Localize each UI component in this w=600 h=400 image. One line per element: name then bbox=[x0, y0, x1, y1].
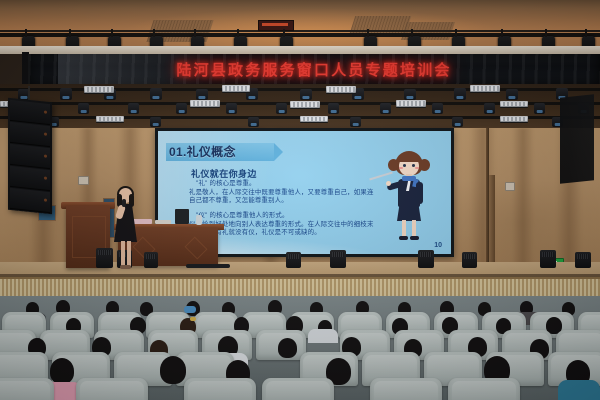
slide-paragraph: "礼" 的核心是尊重。 bbox=[196, 180, 384, 188]
moving-head-light bbox=[506, 89, 518, 100]
attendee-head-accessory-icon bbox=[184, 306, 196, 313]
led-bar-light bbox=[300, 116, 328, 122]
table-monitor bbox=[175, 209, 189, 224]
auditorium-seat[interactable] bbox=[0, 378, 54, 400]
moving-head-light bbox=[226, 103, 237, 114]
line-array-speaker-right bbox=[560, 94, 594, 184]
auditorium-seat[interactable] bbox=[370, 378, 442, 400]
line-array-speaker-left bbox=[8, 98, 52, 215]
ceiling-soffit bbox=[0, 46, 600, 54]
led-bar-light bbox=[190, 100, 220, 107]
led-bar-light bbox=[96, 116, 124, 122]
moving-head-light bbox=[150, 88, 162, 100]
cartoon-shoe-right bbox=[410, 236, 419, 240]
attendee-shirt bbox=[558, 380, 600, 400]
cartoon-blush-left bbox=[399, 167, 403, 169]
auditorium-seat[interactable] bbox=[76, 378, 148, 400]
moving-head-light bbox=[78, 103, 89, 114]
slide-page-number: 10 bbox=[434, 242, 442, 249]
wall-sensor-icon bbox=[505, 182, 515, 191]
audience-seating-area bbox=[0, 296, 600, 400]
moving-head-light bbox=[196, 89, 208, 100]
moving-head-light bbox=[60, 88, 72, 100]
stage-cable-trough bbox=[186, 264, 230, 268]
cartoon-skirt bbox=[397, 205, 421, 221]
auditorium-photo: 陆河县政务服务窗口人员专题培训会 bbox=[0, 0, 600, 400]
wall-sensor-icon bbox=[78, 176, 89, 185]
cartoon-arm-right bbox=[416, 182, 423, 204]
attendee-shirt bbox=[308, 329, 338, 343]
moving-head-light bbox=[150, 117, 161, 127]
moving-head-light bbox=[380, 103, 391, 114]
moving-head-light bbox=[432, 103, 443, 114]
stage-lighting-rig bbox=[0, 84, 600, 128]
table-document bbox=[155, 220, 171, 224]
attendee-head bbox=[50, 358, 74, 384]
presenter-shoes bbox=[120, 265, 131, 269]
led-bar-light bbox=[326, 86, 356, 93]
led-bar-light bbox=[222, 85, 250, 92]
cartoon-blush-right bbox=[415, 167, 419, 169]
ceiling-accent-light-glow bbox=[262, 23, 288, 26]
cartoon-shoe-left bbox=[399, 236, 408, 240]
led-bar-light bbox=[500, 101, 528, 107]
led-banner-panel: 陆河县政务服务窗口人员专题培训会 bbox=[28, 54, 600, 84]
led-bar-light bbox=[470, 85, 500, 92]
moving-head-light bbox=[452, 117, 463, 127]
moving-head-light bbox=[404, 89, 416, 100]
stage-floor-monitor bbox=[462, 252, 477, 268]
moving-head-light bbox=[350, 117, 361, 127]
moving-head-light bbox=[248, 117, 259, 127]
auditorium-seat[interactable] bbox=[262, 378, 334, 400]
moving-head-light bbox=[128, 103, 139, 114]
cartoon-hair-bun-right bbox=[419, 159, 430, 171]
slide-title: 01.礼仪概念 bbox=[169, 144, 279, 160]
led-bar-light bbox=[396, 100, 426, 107]
stage-floor-monitor bbox=[144, 252, 158, 268]
presenter-person bbox=[108, 188, 142, 272]
attendee-head bbox=[278, 338, 297, 358]
attendee-hair-clip-icon bbox=[190, 317, 196, 321]
microphone-icon bbox=[122, 199, 126, 207]
moving-head-light bbox=[534, 103, 545, 114]
led-bar-light bbox=[500, 116, 528, 122]
led-bar-light bbox=[84, 86, 114, 93]
moving-head-light bbox=[328, 103, 339, 114]
moving-head-light bbox=[454, 88, 466, 100]
table-water-bottle bbox=[196, 215, 202, 225]
stage-floor-monitor bbox=[418, 250, 434, 268]
auditorium-seat[interactable] bbox=[184, 378, 256, 400]
led-banner-text: 陆河县政务服务窗口人员专题培训会 bbox=[28, 54, 600, 84]
slide-paragraph: 礼是敬人，在人际交往中既要尊重他人，又要尊重自己，如果连自己都不尊重，又怎能尊重… bbox=[189, 189, 377, 204]
cartoon-presenter-illustration bbox=[385, 149, 437, 245]
led-bar-light bbox=[290, 101, 320, 108]
moving-head-light bbox=[276, 103, 287, 114]
cartoon-eye-left bbox=[403, 164, 406, 167]
stage-floor-monitor bbox=[575, 252, 591, 268]
moving-head-light bbox=[484, 103, 495, 114]
slide-subtitle: 礼仪就在你身边 bbox=[191, 167, 257, 180]
ceiling-truss-rail bbox=[0, 30, 600, 32]
stage-floor-monitor bbox=[286, 252, 301, 268]
cartoon-fringe bbox=[398, 154, 420, 162]
stage-floor-monitor bbox=[330, 250, 346, 268]
presenter-leg-right bbox=[127, 241, 131, 266]
auditorium-seat[interactable] bbox=[448, 378, 520, 400]
presenter-leg-left bbox=[121, 241, 125, 266]
stage-floor-monitor bbox=[540, 250, 556, 268]
stage-side-door bbox=[489, 175, 495, 275]
slide-paragraph: "仪" 的核心是尊重他人的形式。 bbox=[196, 212, 384, 220]
moving-head-light bbox=[176, 103, 187, 114]
cartoon-hand bbox=[386, 181, 391, 186]
attendee-head bbox=[160, 356, 186, 384]
moving-head-light bbox=[300, 89, 312, 100]
